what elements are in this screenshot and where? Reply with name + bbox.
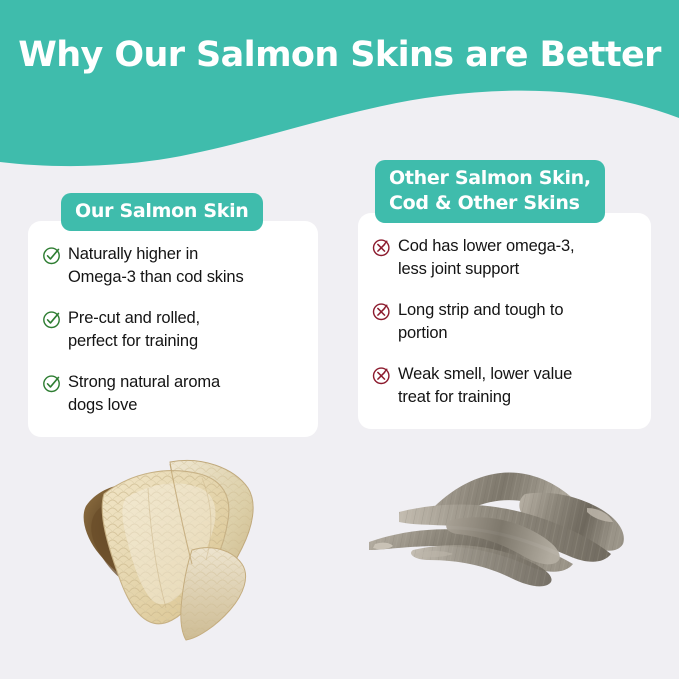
cross-circle-icon bbox=[372, 302, 391, 321]
feature-list-cons: Cod has lower omega-3, less joint suppor… bbox=[372, 235, 635, 409]
check-circle-icon bbox=[42, 374, 61, 393]
card-other-skins: Cod has lower omega-3, less joint suppor… bbox=[358, 213, 651, 429]
page-title: Why Our Salmon Skins are Better bbox=[0, 33, 679, 77]
list-item: Weak smell, lower value treat for traini… bbox=[372, 363, 635, 409]
cross-circle-icon bbox=[372, 366, 391, 385]
card-our-salmon-skin: Naturally higher in Omega-3 than cod ski… bbox=[28, 221, 318, 437]
feature-line: less joint support bbox=[398, 258, 574, 281]
rolled-salmon-skin-photo bbox=[52, 432, 302, 657]
list-item: Long strip and tough to portion bbox=[372, 299, 635, 345]
feature-line: Omega-3 than cod skins bbox=[68, 266, 244, 289]
list-item: Cod has lower omega-3, less joint suppor… bbox=[372, 235, 635, 281]
feature-text: Strong natural aroma dogs love bbox=[68, 371, 220, 417]
list-item: Naturally higher in Omega-3 than cod ski… bbox=[42, 243, 302, 289]
feature-text: Naturally higher in Omega-3 than cod ski… bbox=[68, 243, 244, 289]
feature-text: Cod has lower omega-3, less joint suppor… bbox=[398, 235, 574, 281]
badge-line: Our Salmon Skin bbox=[75, 199, 249, 224]
feature-line: dogs love bbox=[68, 394, 220, 417]
list-item: Strong natural aroma dogs love bbox=[42, 371, 302, 417]
column-other-skins: Other Salmon Skin, Cod & Other Skins Cod… bbox=[358, 155, 651, 429]
badge-line: Other Salmon Skin, bbox=[389, 166, 591, 191]
badge-our-salmon-skin: Our Salmon Skin bbox=[61, 193, 263, 231]
feature-line: Naturally higher in bbox=[68, 243, 244, 266]
list-item: Pre-cut and rolled, perfect for training bbox=[42, 307, 302, 353]
column-our-salmon-skin: Our Salmon Skin Naturally higher in Omeg… bbox=[28, 155, 318, 437]
feature-line: Cod has lower omega-3, bbox=[398, 235, 574, 258]
feature-list-pros: Naturally higher in Omega-3 than cod ski… bbox=[42, 243, 302, 417]
feature-line: Pre-cut and rolled, bbox=[68, 307, 200, 330]
feature-line: Weak smell, lower value bbox=[398, 363, 572, 386]
badge-other-skins: Other Salmon Skin, Cod & Other Skins bbox=[375, 160, 605, 223]
feature-line: Long strip and tough to bbox=[398, 299, 563, 322]
badge-line: Cod & Other Skins bbox=[389, 191, 591, 216]
cod-strips-illustration bbox=[355, 450, 640, 600]
feature-text: Weak smell, lower value treat for traini… bbox=[398, 363, 572, 409]
salmon-skin-illustration bbox=[52, 432, 302, 657]
cross-circle-icon bbox=[372, 238, 391, 257]
cod-skin-strips-photo bbox=[355, 450, 640, 600]
feature-line: portion bbox=[398, 322, 563, 345]
feature-line: Strong natural aroma bbox=[68, 371, 220, 394]
feature-text: Long strip and tough to portion bbox=[398, 299, 563, 345]
feature-text: Pre-cut and rolled, perfect for training bbox=[68, 307, 200, 353]
feature-line: treat for training bbox=[398, 386, 572, 409]
check-circle-icon bbox=[42, 310, 61, 329]
check-circle-icon bbox=[42, 246, 61, 265]
feature-line: perfect for training bbox=[68, 330, 200, 353]
